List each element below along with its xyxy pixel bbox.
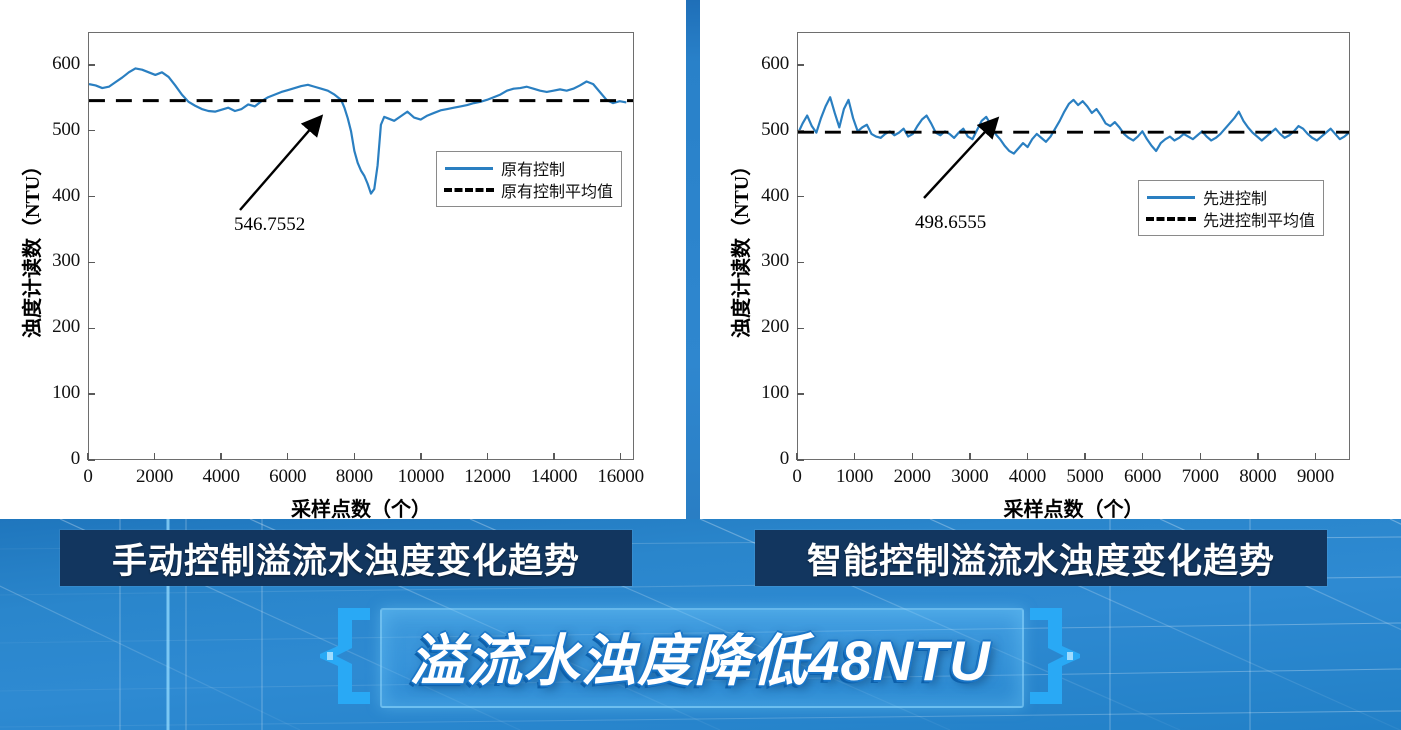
y-tick-label: 500 <box>735 119 789 141</box>
x-tick <box>1315 453 1316 460</box>
annotation-arrow-right <box>918 112 1028 207</box>
x-tick <box>854 453 855 460</box>
y-tick <box>797 262 804 263</box>
x-tick <box>487 453 488 460</box>
x-tick <box>87 453 88 460</box>
headline-text: 溢流水浊度降低48NTU <box>300 600 1100 712</box>
legend-dashed-line-icon <box>443 183 495 197</box>
charts-region: 0100200300400500600020004000600080001000… <box>0 0 1401 519</box>
chart-panel-right: 0100200300400500600010002000300040005000… <box>700 0 1401 519</box>
x-tick <box>969 453 970 460</box>
chart-panel-left: 0100200300400500600020004000600080001000… <box>0 0 686 519</box>
x-tick-label: 16000 <box>576 466 666 488</box>
y-tick <box>797 459 804 460</box>
legend-item-mean[interactable]: 先进控制平均值 <box>1145 208 1315 230</box>
x-tick <box>620 453 621 460</box>
y-tick <box>88 459 95 460</box>
y-tick <box>88 328 95 329</box>
y-tick-label: 500 <box>26 119 80 141</box>
y-tick <box>88 130 95 131</box>
x-tick <box>287 453 288 460</box>
annotation-arrow-left <box>234 110 354 220</box>
x-tick <box>154 453 155 460</box>
annotation-value-left: 546.7552 <box>234 214 305 236</box>
x-tick <box>1257 453 1258 460</box>
x-tick <box>420 453 421 460</box>
x-tick <box>220 453 221 460</box>
x-tick <box>912 453 913 460</box>
panel-divider <box>686 0 700 519</box>
x-tick <box>1200 453 1201 460</box>
y-tick <box>797 196 804 197</box>
chart-caption-left: 手动控制溢流水浊度变化趋势 <box>60 530 632 586</box>
legend-label-mean: 原有控制平均值 <box>501 178 613 202</box>
legend-label-series: 先进控制 <box>1203 185 1267 209</box>
plot-inner-right <box>798 33 1349 459</box>
series-line-left <box>89 33 633 459</box>
legend-item-mean[interactable]: 原有控制平均值 <box>443 179 613 201</box>
x-tick <box>1084 453 1085 460</box>
x-tick <box>553 453 554 460</box>
legend-left[interactable]: 原有控制 原有控制平均值 <box>436 151 622 207</box>
headline-banner: 溢流水浊度降低48NTU <box>300 600 1100 712</box>
y-axis-title-left: 浊度计读数（NTU） <box>16 156 45 338</box>
y-tick <box>88 262 95 263</box>
chart-caption-right: 智能控制溢流水浊度变化趋势 <box>755 530 1327 586</box>
y-tick <box>797 393 804 394</box>
y-tick <box>88 393 95 394</box>
plot-area-right <box>797 32 1350 460</box>
plot-area-left <box>88 32 634 460</box>
legend-label-mean: 先进控制平均值 <box>1203 207 1315 231</box>
y-tick <box>797 130 804 131</box>
x-axis-title-right: 采样点数（个） <box>797 493 1350 522</box>
chart-caption-right-label: 智能控制溢流水浊度变化趋势 <box>807 533 1275 584</box>
y-tick <box>797 64 804 65</box>
y-tick <box>797 328 804 329</box>
y-tick-label: 100 <box>735 382 789 404</box>
legend-solid-line-icon <box>1145 190 1197 204</box>
x-axis-title-left: 采样点数（个） <box>88 493 634 522</box>
legend-right[interactable]: 先进控制 先进控制平均值 <box>1138 180 1324 236</box>
y-tick <box>88 64 95 65</box>
legend-dashed-line-icon <box>1145 212 1197 226</box>
legend-item-series[interactable]: 原有控制 <box>443 157 613 179</box>
chart-caption-left-label: 手动控制溢流水浊度变化趋势 <box>112 533 580 584</box>
y-tick-label: 100 <box>26 382 80 404</box>
x-tick <box>354 453 355 460</box>
legend-solid-line-icon <box>443 161 495 175</box>
series-line-right <box>798 33 1349 459</box>
screenshot-root: 0100200300400500600020004000600080001000… <box>0 0 1401 730</box>
annotation-value-right: 498.6555 <box>915 212 986 234</box>
y-tick <box>88 196 95 197</box>
x-tick <box>1027 453 1028 460</box>
plot-inner-left <box>89 33 633 459</box>
legend-item-series[interactable]: 先进控制 <box>1145 186 1315 208</box>
legend-label-series: 原有控制 <box>501 156 565 180</box>
x-tick-label: 9000 <box>1270 466 1360 488</box>
x-tick <box>796 453 797 460</box>
y-tick-label: 600 <box>735 53 789 75</box>
y-tick-label: 600 <box>26 53 80 75</box>
y-axis-title-right: 浊度计读数（NTU） <box>725 156 754 338</box>
x-tick <box>1142 453 1143 460</box>
